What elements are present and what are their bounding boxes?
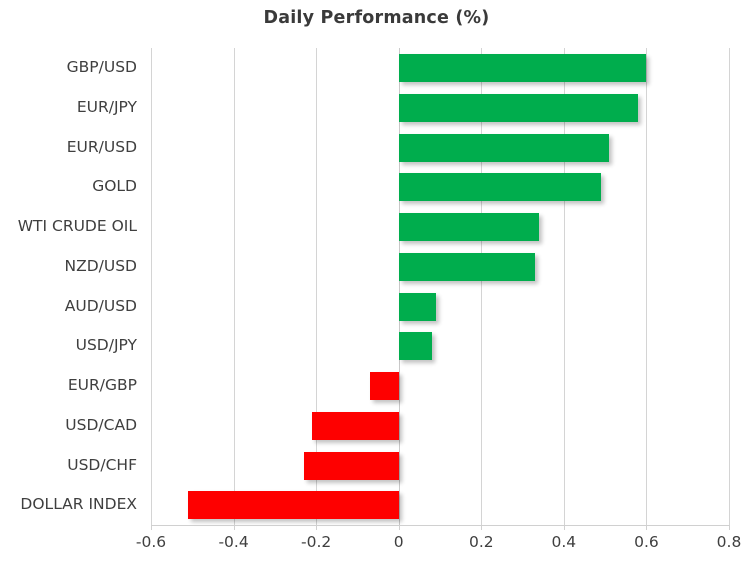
y-axis-label-gold: GOLD <box>92 167 137 207</box>
x-tick-mark-0.6 <box>646 525 647 530</box>
x-tick-label-0.4: 0.4 <box>552 533 577 551</box>
y-axis-label-eur-gbp: EUR/GBP <box>68 366 137 406</box>
x-tick-label-0: 0 <box>394 533 404 551</box>
y-axis-label-dollar-index: DOLLAR INDEX <box>20 485 137 525</box>
x-tick-label-0.8: 0.8 <box>717 533 742 551</box>
y-axis-label-nzd-usd: NZD/USD <box>65 247 138 287</box>
y-axis-label-eur-jpy: EUR/JPY <box>77 88 137 128</box>
bar-row <box>151 207 729 247</box>
y-axis-label-eur-usd: EUR/USD <box>67 128 137 168</box>
bar-gbp-usd[interactable] <box>399 54 647 82</box>
bar-usd-chf[interactable] <box>304 452 399 480</box>
bar-row <box>151 446 729 486</box>
y-axis-label-usd-jpy: USD/JPY <box>76 326 137 366</box>
y-axis-label-gbp-usd: GBP/USD <box>67 48 137 88</box>
bar-row <box>151 167 729 207</box>
y-axis-label-usd-cad: USD/CAD <box>65 406 137 446</box>
x-tick-label--0.2: -0.2 <box>301 533 331 551</box>
x-tick-mark-0.4 <box>564 525 565 530</box>
bar-eur-jpy[interactable] <box>399 94 638 122</box>
bar-usd-cad[interactable] <box>312 412 399 440</box>
x-tick-mark-0.2 <box>481 525 482 530</box>
x-tick-mark-0 <box>399 525 400 530</box>
bar-wti-crude-oil[interactable] <box>399 213 539 241</box>
gridline-0.8 <box>729 48 730 525</box>
x-tick-mark--0.2 <box>316 525 317 530</box>
y-axis-label-aud-usd: AUD/USD <box>65 287 137 327</box>
bar-row <box>151 48 729 88</box>
bar-dollar-index[interactable] <box>188 491 399 519</box>
bar-nzd-usd[interactable] <box>399 253 535 281</box>
x-tick-mark--0.4 <box>234 525 235 530</box>
bar-gold[interactable] <box>399 173 601 201</box>
bar-row <box>151 287 729 327</box>
x-tick-mark--0.6 <box>151 525 152 530</box>
daily-performance-bar-chart: Daily Performance (%) GBP/USDEUR/JPYEUR/… <box>0 0 753 568</box>
bar-eur-gbp[interactable] <box>370 372 399 400</box>
x-tick-mark-0.8 <box>729 525 730 530</box>
bar-row <box>151 366 729 406</box>
bars-layer <box>151 48 729 525</box>
x-tick-label-0.6: 0.6 <box>634 533 659 551</box>
bar-row <box>151 406 729 446</box>
x-tick-label--0.4: -0.4 <box>218 533 248 551</box>
bar-row <box>151 326 729 366</box>
bar-aud-usd[interactable] <box>399 293 436 321</box>
chart-title: Daily Performance (%) <box>0 8 753 28</box>
bar-row <box>151 88 729 128</box>
bar-eur-usd[interactable] <box>399 134 610 162</box>
bar-row <box>151 247 729 287</box>
x-axis-line <box>151 525 729 526</box>
plot-area <box>151 48 729 525</box>
bar-usd-jpy[interactable] <box>399 332 432 360</box>
bar-row <box>151 485 729 525</box>
y-axis-category-labels: GBP/USDEUR/JPYEUR/USDGOLDWTI CRUDE OILNZ… <box>0 48 145 525</box>
x-tick-label-0.2: 0.2 <box>469 533 494 551</box>
x-tick-label--0.6: -0.6 <box>136 533 166 551</box>
bar-row <box>151 128 729 168</box>
y-axis-label-wti-crude-oil: WTI CRUDE OIL <box>18 207 137 247</box>
y-axis-label-usd-chf: USD/CHF <box>67 446 137 486</box>
